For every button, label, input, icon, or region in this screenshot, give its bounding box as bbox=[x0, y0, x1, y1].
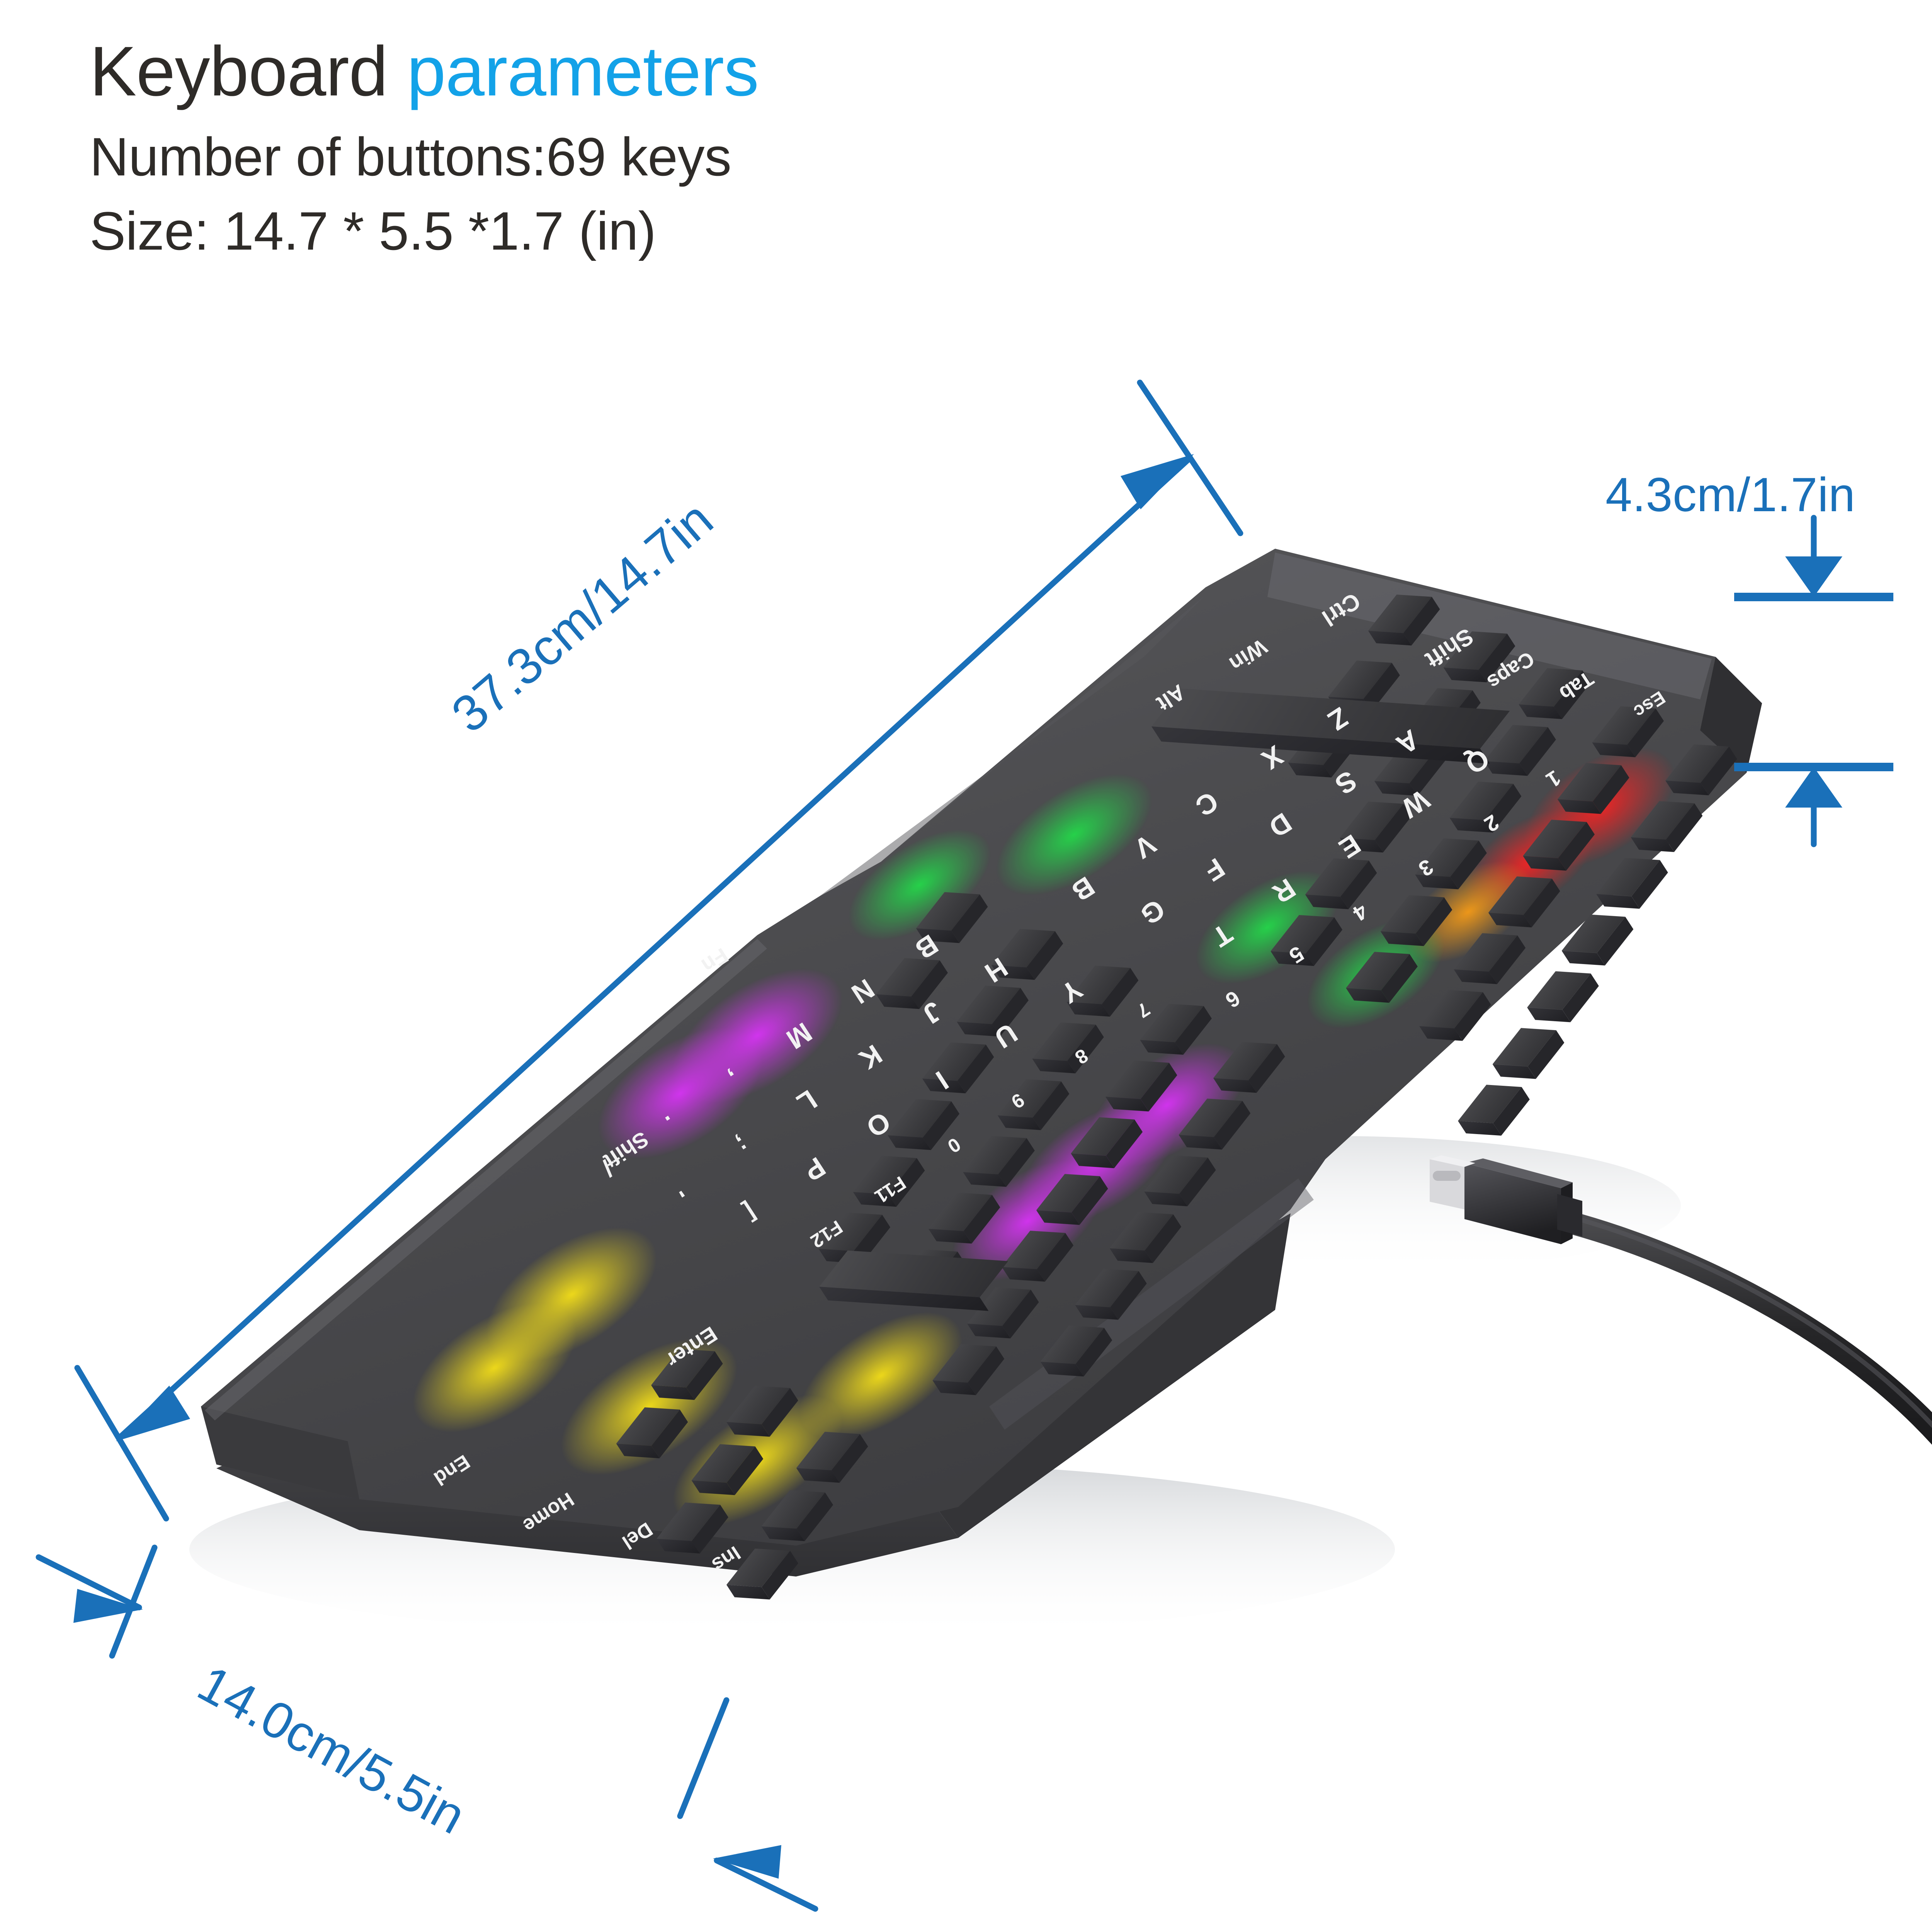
svg-text:X: X bbox=[1256, 740, 1289, 776]
dimension-label-width: 14.0cm/5.5in bbox=[189, 1654, 475, 1845]
dimension-annotations bbox=[0, 0, 1932, 1932]
dimension-label-height: 4.3cm/1.7in bbox=[1605, 468, 1855, 522]
svg-text:1: 1 bbox=[1542, 765, 1565, 793]
svg-text:M: M bbox=[781, 1016, 817, 1055]
svg-text:Q: Q bbox=[1460, 742, 1495, 780]
key-space bbox=[1143, 545, 1528, 907]
svg-text:Home: Home bbox=[519, 1488, 578, 1537]
svg-text:Caps: Caps bbox=[1483, 647, 1538, 694]
svg-text:L: L bbox=[791, 1084, 822, 1119]
keyboard-illustration: Ctrl Shift Caps Tab Esc Win Alt Z A Q 1 … bbox=[0, 0, 1932, 1932]
key-enter bbox=[811, 1180, 1025, 1381]
svg-text:E: E bbox=[1333, 828, 1366, 864]
svg-text:9: 9 bbox=[1007, 1089, 1028, 1113]
heading-block: Keyboard parameters Number of buttons:69… bbox=[90, 34, 1326, 266]
svg-text:Shift: Shift bbox=[599, 1127, 653, 1173]
infographic-canvas: Keyboard parameters Number of buttons:69… bbox=[0, 0, 1932, 1932]
svg-text:F11: F11 bbox=[871, 1172, 910, 1207]
dimension-width bbox=[39, 1548, 815, 1909]
keyboard-chassis bbox=[201, 549, 1762, 1577]
title-primary: Keyboard bbox=[90, 32, 407, 111]
usb-cable bbox=[1549, 1211, 1932, 1499]
svg-text:T: T bbox=[1207, 918, 1238, 953]
svg-text:K: K bbox=[854, 1038, 887, 1075]
svg-text:,: , bbox=[724, 1066, 745, 1093]
svg-text:Y: Y bbox=[1055, 973, 1088, 1009]
svg-text:B: B bbox=[1066, 870, 1100, 907]
spec-button-count: Number of buttons:69 keys bbox=[90, 122, 1326, 192]
dimension-label-length: 37.3cm/14.7in bbox=[440, 490, 724, 744]
page-title: Keyboard parameters bbox=[90, 34, 1326, 109]
svg-text:Z: Z bbox=[1323, 701, 1354, 736]
key-group-right-cluster bbox=[1145, 488, 1839, 1186]
svg-text:O: O bbox=[861, 1105, 896, 1143]
svg-text:S: S bbox=[1330, 765, 1362, 801]
svg-text:D: D bbox=[1263, 806, 1297, 843]
svg-text:8: 8 bbox=[1071, 1044, 1092, 1068]
svg-text:I: I bbox=[930, 1065, 954, 1095]
svg-text:': ' bbox=[669, 1176, 689, 1203]
svg-text:End: End bbox=[430, 1450, 474, 1490]
svg-text:0: 0 bbox=[944, 1133, 964, 1157]
spec-size: Size: 14.7 * 5.5 *1.7 (in) bbox=[90, 196, 1326, 266]
svg-text:R: R bbox=[1267, 872, 1301, 909]
svg-text:Esc: Esc bbox=[1630, 687, 1668, 722]
svg-text:P: P bbox=[798, 1151, 831, 1187]
svg-text:Shift: Shift bbox=[1421, 623, 1478, 673]
key-group-nav-cluster bbox=[577, 1292, 909, 1633]
svg-text:H: H bbox=[979, 951, 1013, 988]
svg-text:J: J bbox=[917, 995, 947, 1030]
svg-text:Ctrl: Ctrl bbox=[1318, 588, 1365, 631]
svg-text:6: 6 bbox=[1221, 986, 1244, 1013]
svg-text:Tab: Tab bbox=[1555, 667, 1598, 705]
svg-text:[: [ bbox=[739, 1199, 761, 1226]
svg-text:5: 5 bbox=[1285, 941, 1308, 968]
svg-text:G: G bbox=[1135, 893, 1170, 931]
key-group-left-cluster bbox=[693, 785, 1371, 1459]
svg-text:A: A bbox=[1391, 723, 1424, 760]
svg-text:2: 2 bbox=[1480, 810, 1503, 837]
title-accent: parameters bbox=[407, 32, 759, 111]
svg-text:Ins: Ins bbox=[708, 1541, 745, 1576]
svg-text:;: ; bbox=[731, 1131, 753, 1159]
svg-text:F: F bbox=[1199, 852, 1230, 887]
svg-text:N: N bbox=[846, 973, 879, 1009]
svg-text:4: 4 bbox=[1349, 899, 1372, 926]
svg-text:F12: F12 bbox=[807, 1216, 847, 1252]
svg-text:B: B bbox=[910, 928, 943, 965]
svg-text:.: . bbox=[661, 1110, 682, 1137]
svg-text:Fn: Fn bbox=[697, 943, 733, 978]
keyboard-ground-shadow bbox=[189, 1136, 1681, 1638]
usb-type-c-connector bbox=[1430, 1155, 1582, 1244]
svg-text:Del: Del bbox=[618, 1518, 656, 1554]
rgb-underglow bbox=[391, 723, 1696, 1552]
svg-text:Win: Win bbox=[1225, 634, 1272, 676]
svg-text:7: 7 bbox=[1133, 998, 1154, 1022]
svg-text:Alt: Alt bbox=[1152, 680, 1190, 716]
svg-text:/: / bbox=[597, 1155, 618, 1182]
keycap-legends: Ctrl Shift Caps Tab Esc Win Alt Z A Q 1 … bbox=[430, 588, 1668, 1576]
dimension-height bbox=[1734, 518, 1893, 844]
svg-text:V: V bbox=[1129, 828, 1161, 864]
svg-text:W: W bbox=[1396, 784, 1435, 824]
svg-text:C: C bbox=[1190, 785, 1223, 822]
svg-text:3: 3 bbox=[1414, 854, 1437, 881]
svg-text:U: U bbox=[989, 1017, 1022, 1054]
svg-text:Enter: Enter bbox=[662, 1322, 721, 1372]
